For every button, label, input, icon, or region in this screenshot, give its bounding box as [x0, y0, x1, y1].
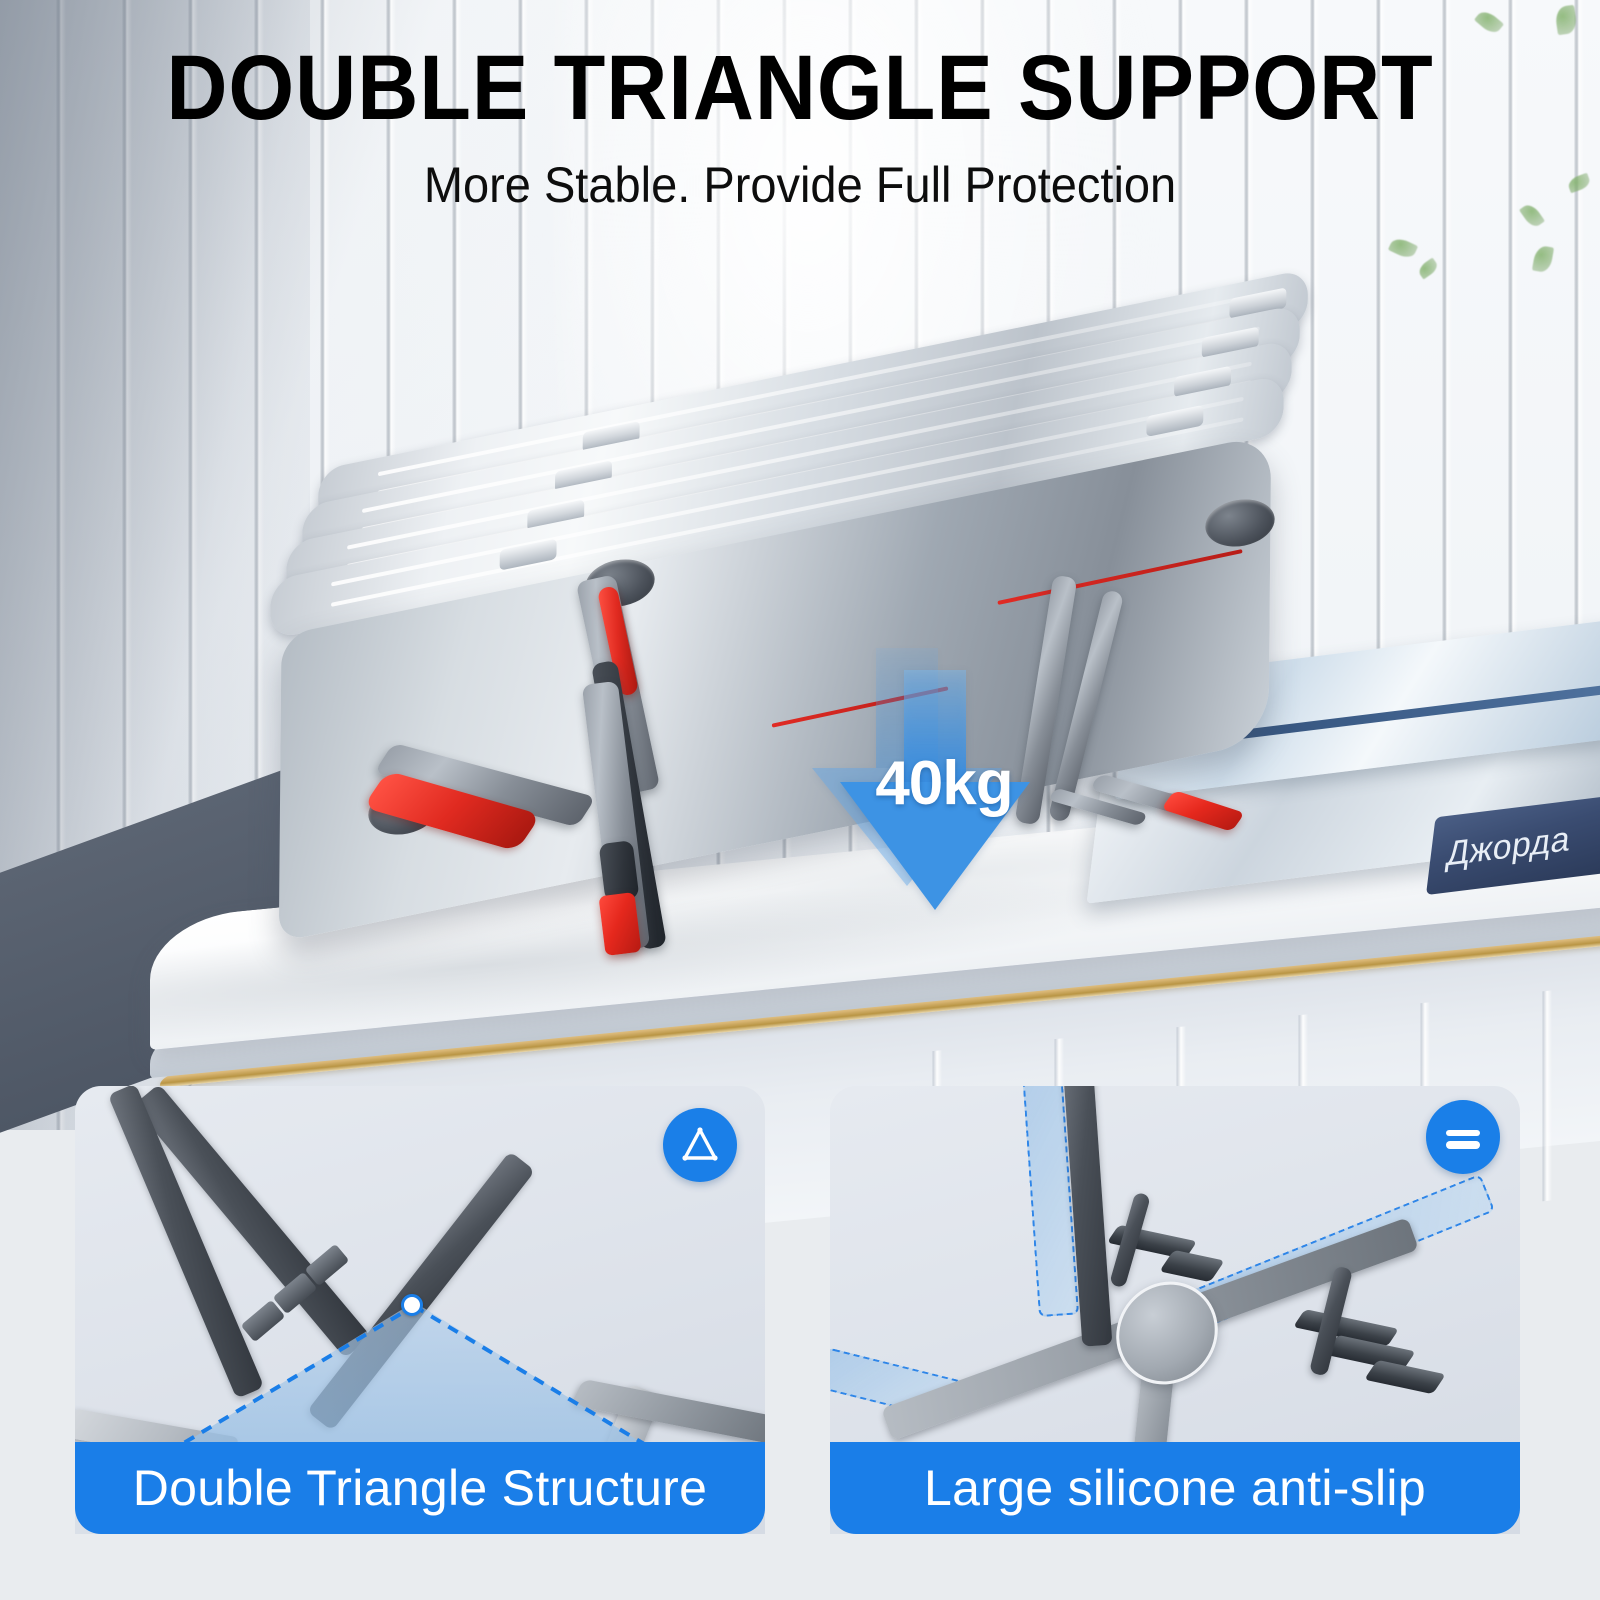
- load-capacity-label: 40kg: [824, 748, 1064, 819]
- equals-bars-icon-badge: [1426, 1100, 1500, 1174]
- load-capacity-indicator: 40kg: [800, 640, 1080, 940]
- feature-caption-left: Double Triangle Structure: [75, 1442, 765, 1534]
- triangle-vertex-dot: [401, 1294, 423, 1316]
- stand-foot-red: [1161, 790, 1245, 832]
- feature-panels: Double Triangle Structure Large silicone…: [0, 1086, 1600, 1600]
- header-block: DOUBLE TRIANGLE SUPPORT More Stable. Pro…: [0, 42, 1600, 214]
- feature-caption-left-text: Double Triangle Structure: [133, 1459, 707, 1517]
- triangle-icon-badge: [663, 1108, 737, 1182]
- stand-foot-step: [1159, 1250, 1224, 1282]
- page-title: DOUBLE TRIANGLE SUPPORT: [64, 42, 1536, 136]
- stand-foot-step: [1364, 1360, 1446, 1394]
- triangle-icon: [677, 1122, 723, 1168]
- equals-bars-icon: [1439, 1113, 1487, 1161]
- feature-caption-right-text: Large silicone anti-slip: [924, 1459, 1426, 1517]
- stand-leg-joint: [599, 840, 640, 902]
- page-subtitle: More Stable. Provide Full Protection: [48, 156, 1552, 214]
- product-feature-image: Джорда: [0, 0, 1600, 1600]
- stand-foot-red: [598, 892, 641, 956]
- feature-caption-right: Large silicone anti-slip: [830, 1442, 1520, 1534]
- book-spine-text: Джорда: [1444, 819, 1573, 874]
